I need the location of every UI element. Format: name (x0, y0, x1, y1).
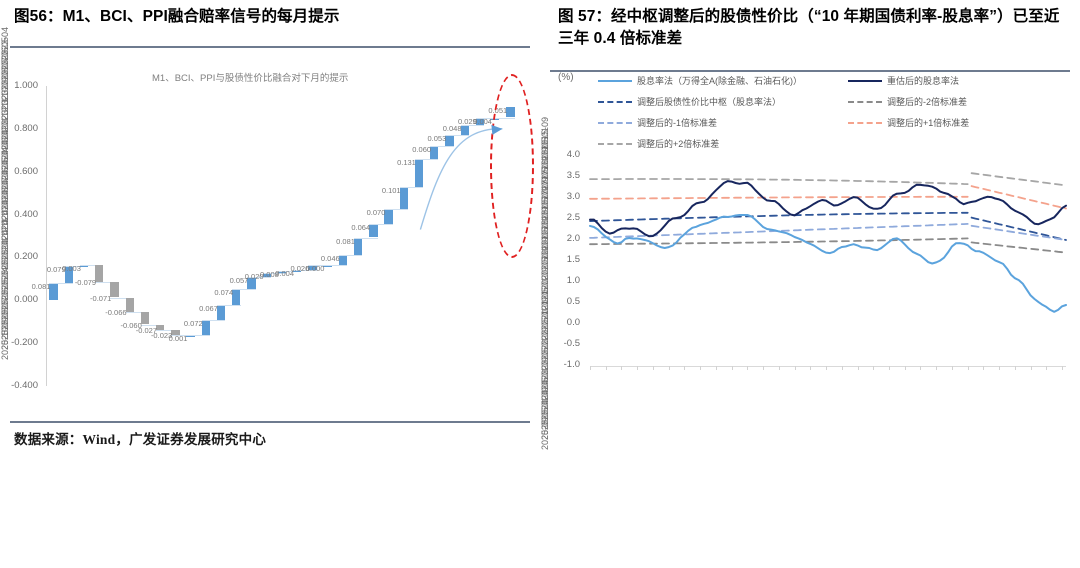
figure-page: 图56：M1、BCI、PPI融合赔率信号的每月提示 M1、BCI、PPI与股债性… (0, 0, 1080, 455)
waterfall-bar (95, 265, 103, 282)
waterfall-value-label: 0.053 (428, 134, 447, 143)
legend-label: 调整后股债性价比中枢（股息率法） (637, 95, 781, 108)
waterfall-bar (369, 224, 377, 238)
waterfall-connector (415, 159, 439, 160)
legend-swatch-solid-line-icon (598, 80, 632, 82)
waterfall-connector (49, 283, 73, 284)
legend-item[interactable]: 调整后的+2倍标准差 (598, 137, 719, 150)
series-minus2sd (972, 242, 1066, 252)
legend-label: 重估后的股息率法 (887, 74, 959, 87)
waterfall-bar (354, 238, 362, 255)
footer-divider-left (10, 421, 530, 423)
legend-item[interactable]: 调整后的-2倍标准差 (848, 95, 967, 108)
title-divider-left (10, 46, 530, 48)
waterfall-connector (323, 265, 347, 266)
series-revalued-dividend-yield (590, 181, 1066, 236)
waterfall-value-label: 0.081 (32, 282, 51, 291)
series-plus1sd (590, 197, 968, 199)
y-axis-unit-label: (%) (558, 72, 574, 83)
legend-swatch-dashed-line-icon (598, 101, 632, 103)
legend-label: 调整后的-1倍标准差 (637, 116, 717, 129)
series-plus2sd (590, 179, 968, 184)
waterfall-value-label: 0.064 (351, 223, 370, 232)
figure-56-title: 图56：M1、BCI、PPI融合赔率信号的每月提示 (14, 6, 528, 28)
series-plus2sd (972, 173, 1066, 185)
highlight-ellipse (490, 74, 534, 258)
waterfall-value-label: 0.131 (397, 158, 416, 167)
waterfall-bar (400, 187, 408, 209)
callout-arrow (0, 60, 540, 420)
waterfall-bar (49, 283, 57, 300)
waterfall-connector (369, 224, 393, 225)
right-chart-legend: 股息率法（万得全A(除金融、石油石化)）重估后的股息率法调整后股债性价比中枢（股… (598, 74, 1068, 158)
figure-57-title: 图 57：经中枢调整后的股债性价比（“10 年期国债利率-股息率”）已至近三年 … (558, 6, 1068, 51)
left-waterfall-chart: 1.0000.8000.6000.4000.2000.000-0.200-0.4… (0, 60, 540, 420)
legend-label: 调整后的+1倍标准差 (887, 116, 969, 129)
waterfall-value-label: 0.004 (473, 117, 492, 126)
legend-item[interactable]: 调整后的+1倍标准差 (848, 116, 969, 129)
waterfall-value-label: 0.060 (412, 145, 431, 154)
waterfall-bar (202, 320, 210, 335)
left-y-axis-line (46, 86, 47, 386)
waterfall-connector (202, 320, 226, 321)
waterfall-value-label: 0.072 (184, 319, 203, 328)
waterfall-connector (354, 238, 378, 239)
legend-item[interactable]: 重估后的股息率法 (848, 74, 959, 87)
series-center (590, 213, 968, 221)
waterfall-bar (430, 146, 438, 159)
right-line-chart: 4.03.53.02.52.01.51.00.50.0-0.5-1.02015-… (540, 150, 1080, 420)
legend-swatch-dashed-line-icon (598, 122, 632, 124)
source-note-left: 数据来源：Wind，广发证券发展研究中心 (14, 428, 266, 448)
waterfall-value-label: 0.067 (199, 304, 218, 313)
waterfall-bar (339, 255, 347, 265)
waterfall-value-label: 0.070 (367, 208, 386, 217)
legend-label: 调整后的-2倍标准差 (887, 95, 967, 108)
waterfall-bar (415, 159, 423, 187)
waterfall-bar (384, 209, 392, 224)
legend-swatch-dashed-line-icon (848, 122, 882, 124)
waterfall-bar (445, 135, 453, 146)
title-divider-right (550, 70, 1070, 72)
waterfall-bar (232, 289, 240, 305)
left-y-tick: -0.400 (0, 380, 38, 391)
figure-panel-right: 图 57：经中枢调整后的股债性价比（“10 年期国债利率-股息率”）已至近三年 … (540, 0, 1080, 455)
waterfall-connector (445, 135, 469, 136)
waterfall-connector (217, 305, 241, 306)
legend-swatch-solid-line-icon (848, 80, 882, 82)
waterfall-value-label: 0.000 (306, 264, 325, 273)
right-chart-plot-area (540, 150, 1080, 420)
legend-label: 调整后的+2倍标准差 (637, 137, 719, 150)
legend-swatch-dashed-line-icon (598, 143, 632, 145)
waterfall-value-label: 0.074 (214, 288, 233, 297)
waterfall-connector (430, 146, 454, 147)
waterfall-bar (110, 282, 118, 297)
waterfall-bar (141, 312, 149, 325)
waterfall-bar (217, 305, 225, 319)
legend-item[interactable]: 调整后股债性价比中枢（股息率法） (598, 95, 781, 108)
waterfall-connector (384, 209, 408, 210)
waterfall-value-label: -0.071 (90, 294, 111, 303)
waterfall-connector (186, 335, 210, 336)
figure-panel-left: 图56：M1、BCI、PPI融合赔率信号的每月提示 M1、BCI、PPI与股债性… (0, 0, 540, 455)
waterfall-value-label: 0.046 (321, 254, 340, 263)
waterfall-value-label: 0.081 (336, 237, 355, 246)
waterfall-connector (400, 187, 424, 188)
legend-swatch-dashed-line-icon (848, 101, 882, 103)
waterfall-value-label: 0.101 (382, 186, 401, 195)
left-x-tick: 2025-10 (0, 0, 10, 360)
waterfall-value-label: 0.001 (169, 334, 188, 343)
waterfall-value-label: -0.066 (105, 308, 126, 317)
legend-item[interactable]: 调整后的-1倍标准差 (598, 116, 717, 129)
waterfall-value-label: 0.003 (62, 264, 81, 273)
waterfall-connector (339, 255, 363, 256)
waterfall-bar (126, 298, 134, 312)
legend-label: 股息率法（万得全A(除金融、石油石化)） (637, 74, 802, 87)
waterfall-value-label: -0.079 (75, 278, 96, 287)
waterfall-connector (232, 289, 256, 290)
legend-item[interactable]: 股息率法（万得全A(除金融、石油石化)） (598, 74, 802, 87)
